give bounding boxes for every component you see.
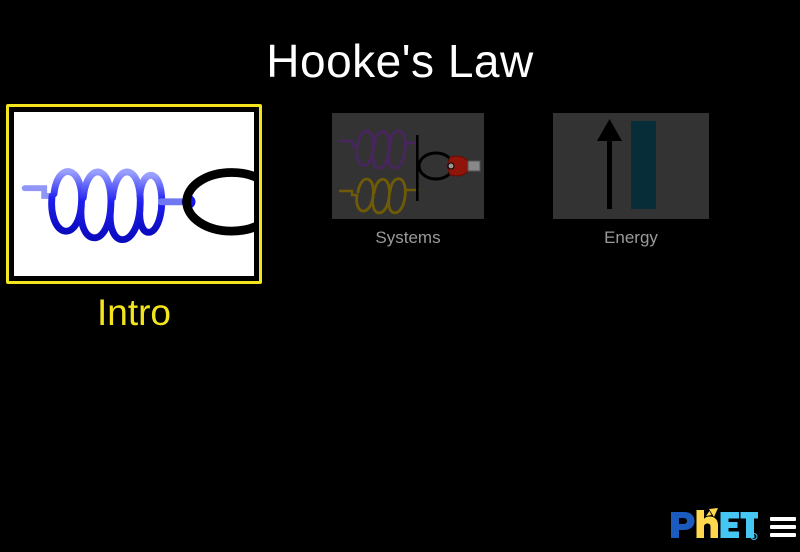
spring-with-robotic-arm-icon: [14, 112, 254, 276]
energy-arrow-and-bar-icon: [553, 113, 709, 219]
systems-thumbnail: [332, 113, 484, 219]
hamburger-menu-icon[interactable]: Menu: [768, 515, 794, 539]
up-arrow-icon: [597, 119, 622, 209]
screen-button-energy[interactable]: Energy: [540, 104, 722, 249]
screen-button-systems[interactable]: Systems: [318, 104, 498, 249]
screen-label-energy: Energy: [540, 227, 722, 249]
screen-label-systems: Systems: [318, 227, 498, 249]
phet-logo[interactable]: R PhET: [670, 508, 758, 547]
phet-logo-icon: R: [670, 508, 758, 542]
menu-bar-1: [770, 517, 796, 521]
menu-bar-3: [770, 533, 796, 537]
two-springs-series-icon: [332, 113, 484, 219]
intro-thumbnail: [14, 112, 254, 276]
phet-branding-bar: R PhET Menu: [670, 508, 794, 546]
intro-thumbnail-frame: [6, 104, 262, 284]
menu-bar-2: [770, 525, 796, 529]
screen-label-intro: Intro: [0, 292, 268, 334]
screen-selection-row: Intro: [0, 104, 800, 364]
phet-logo-text: PhET: [758, 508, 759, 509]
screen-button-intro[interactable]: Intro: [0, 104, 268, 334]
energy-thumbnail: [553, 113, 709, 219]
svg-text:R: R: [753, 534, 756, 539]
page-title: Hooke's Law: [0, 33, 800, 89]
